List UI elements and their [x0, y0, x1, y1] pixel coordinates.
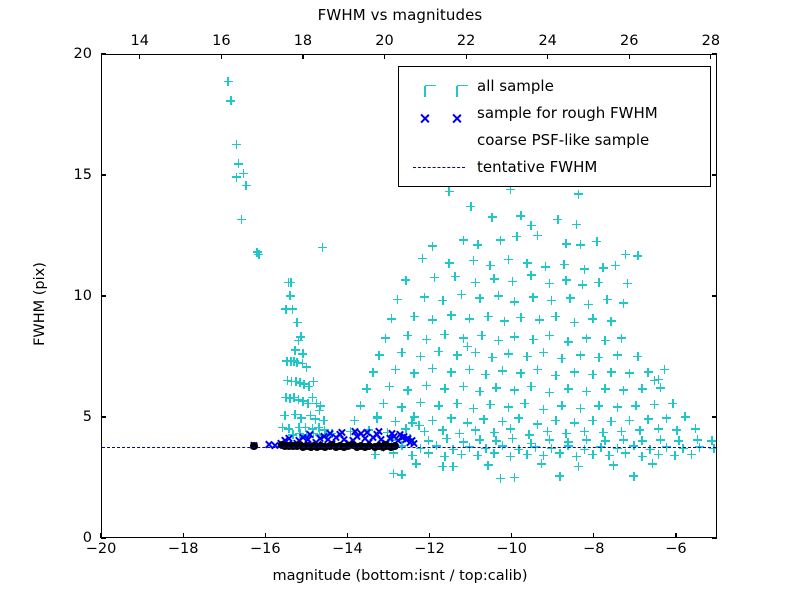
data-point — [442, 434, 451, 443]
data-point — [383, 428, 392, 437]
data-point — [473, 240, 482, 249]
data-point — [535, 315, 544, 324]
x-tick-label-top: 20 — [375, 33, 393, 49]
y-tick-right — [712, 416, 717, 417]
data-point — [523, 352, 532, 361]
data-point — [420, 293, 429, 302]
legend-label-all-sample: all sample — [477, 77, 554, 95]
data-point — [588, 416, 597, 425]
data-point — [551, 312, 560, 321]
chart-title: FWHM vs magnitudes — [0, 6, 800, 24]
data-point — [520, 399, 529, 408]
data-point — [537, 459, 546, 468]
data-point — [286, 394, 295, 403]
data-point — [580, 427, 589, 436]
x-tick-top — [139, 54, 140, 59]
x-tick-top — [384, 54, 385, 59]
data-point — [295, 378, 304, 387]
data-point — [648, 459, 657, 468]
data-point — [527, 382, 536, 391]
data-point — [547, 296, 556, 305]
data-point — [300, 380, 309, 389]
data-point — [459, 382, 468, 391]
data-point — [613, 351, 622, 360]
data-point — [543, 427, 552, 436]
data-point — [304, 382, 313, 391]
data-point — [410, 412, 419, 421]
tentative-fwhm-line — [102, 447, 716, 448]
data-point — [527, 221, 536, 230]
data-point — [451, 272, 460, 281]
x-tick-label-bottom: −16 — [250, 541, 281, 557]
data-point — [410, 369, 419, 378]
data-point — [449, 462, 458, 471]
data-point — [545, 279, 554, 288]
data-point — [479, 415, 488, 424]
x-tick-bottom — [429, 533, 430, 538]
data-point — [477, 331, 486, 340]
x-tick-top — [221, 54, 222, 59]
data-point — [576, 351, 585, 360]
y-tick-right — [712, 53, 717, 54]
y-tick-label: 15 — [0, 167, 92, 183]
legend-entry-rough-fwhm[interactable]: sample for rough FWHM — [399, 99, 710, 126]
x-tick-label-top: 14 — [131, 33, 149, 49]
data-point — [295, 436, 304, 445]
data-point — [305, 430, 314, 439]
data-point — [278, 423, 287, 432]
data-point — [294, 395, 303, 404]
data-point — [445, 187, 454, 196]
data-point — [475, 294, 484, 303]
data-point — [340, 435, 349, 444]
data-point — [375, 427, 384, 436]
data-point — [301, 423, 310, 432]
data-point — [403, 331, 412, 340]
data-point — [494, 291, 503, 300]
data-point — [393, 436, 402, 445]
data-point — [570, 318, 579, 327]
data-point — [312, 399, 321, 408]
data-point — [282, 357, 291, 366]
x-tick-label-bottom: −10 — [496, 541, 527, 557]
data-point — [650, 400, 659, 409]
data-point — [348, 436, 357, 445]
data-point — [296, 332, 305, 341]
data-point — [428, 242, 437, 251]
data-point — [599, 428, 608, 437]
data-point — [510, 332, 519, 341]
data-point — [484, 312, 493, 321]
data-point — [232, 140, 241, 149]
data-point — [445, 259, 454, 268]
data-point — [512, 232, 521, 241]
data-point — [635, 426, 644, 435]
data-point — [656, 383, 665, 392]
data-point — [360, 434, 369, 443]
data-point — [336, 430, 345, 439]
data-point — [315, 434, 324, 443]
legend-entry-tentative-fwhm[interactable]: tentative FWHM — [399, 153, 710, 180]
data-point — [290, 357, 299, 366]
data-point — [291, 410, 300, 419]
data-point — [406, 438, 415, 447]
data-point — [481, 444, 490, 453]
data-point — [415, 421, 424, 430]
data-point — [466, 202, 475, 211]
data-point — [557, 401, 566, 410]
x-tick-label-top: 24 — [538, 33, 556, 49]
data-point — [313, 440, 322, 449]
data-point — [387, 435, 396, 444]
legend-box[interactable]: all sample sample for rough FWHM coarse … — [398, 66, 711, 187]
data-point — [264, 440, 273, 449]
data-point — [447, 311, 456, 320]
data-point — [297, 414, 306, 423]
data-point — [373, 430, 382, 439]
data-point — [362, 384, 371, 393]
data-point — [401, 276, 410, 285]
y-tick-left — [101, 295, 106, 296]
data-point — [311, 415, 320, 424]
data-point — [539, 451, 548, 460]
data-point — [440, 384, 449, 393]
data-point — [551, 371, 560, 380]
data-point — [356, 429, 365, 438]
data-point — [459, 236, 468, 245]
x-tick-label-top: 26 — [620, 33, 638, 49]
data-point — [514, 414, 523, 423]
data-point — [455, 429, 464, 438]
data-point — [284, 434, 293, 443]
x-axis-label: magnitude (bottom:isnt / top:calib) — [0, 568, 800, 584]
y-tick-label: 20 — [0, 46, 92, 62]
data-point — [319, 416, 328, 425]
data-point — [486, 400, 495, 409]
data-point — [633, 251, 642, 260]
data-point — [299, 433, 308, 442]
data-point — [293, 358, 302, 367]
data-point — [557, 354, 566, 363]
data-point — [420, 427, 429, 436]
data-point — [457, 450, 466, 459]
data-point — [555, 472, 564, 481]
data-point — [611, 261, 620, 270]
data-point — [291, 346, 300, 355]
data-point — [234, 159, 243, 168]
data-point — [660, 365, 669, 374]
data-point — [303, 435, 312, 444]
data-point — [314, 423, 323, 432]
y-tick-label: 5 — [0, 409, 92, 425]
data-point — [397, 433, 406, 442]
data-point — [687, 450, 696, 459]
data-point — [638, 436, 647, 445]
y-tick-left — [101, 53, 106, 54]
data-point — [352, 432, 361, 441]
data-point — [601, 336, 610, 345]
data-point — [362, 428, 371, 437]
x-tick-top — [547, 54, 548, 59]
legend-entry-all-sample[interactable]: all sample — [399, 72, 710, 99]
data-point — [288, 430, 297, 439]
data-point — [613, 444, 622, 453]
data-point — [447, 414, 456, 423]
data-point — [506, 452, 515, 461]
data-point — [576, 404, 585, 413]
data-point — [298, 359, 307, 368]
y-tick-left — [101, 537, 106, 538]
data-point — [459, 438, 468, 447]
data-point — [588, 314, 597, 323]
data-point — [291, 377, 300, 386]
data-point — [638, 384, 647, 393]
data-point — [369, 433, 378, 442]
data-point — [494, 336, 503, 345]
data-point — [299, 397, 308, 406]
figure-canvas: FWHM vs magnitudes −20−18−16−14−12−10−8−… — [0, 0, 800, 600]
data-point — [492, 383, 501, 392]
data-point — [473, 451, 482, 460]
data-point — [594, 278, 603, 287]
data-point — [288, 305, 297, 314]
data-point — [239, 169, 248, 178]
data-point — [492, 436, 501, 445]
data-point — [385, 382, 394, 391]
data-point — [389, 469, 398, 478]
data-point — [434, 401, 443, 410]
data-point — [570, 368, 579, 377]
data-point — [545, 388, 554, 397]
data-point — [629, 472, 638, 481]
data-point — [465, 365, 474, 374]
data-point — [424, 449, 433, 458]
data-point — [668, 399, 677, 408]
data-point — [232, 173, 241, 182]
x-tick-label-top: 28 — [702, 33, 720, 49]
data-point — [288, 440, 297, 449]
data-point — [551, 416, 560, 425]
data-point — [490, 428, 499, 437]
data-point — [422, 381, 431, 390]
data-point — [397, 403, 406, 412]
data-point — [527, 271, 536, 280]
data-point — [619, 435, 628, 444]
data-point — [498, 417, 507, 426]
data-point — [309, 377, 318, 386]
data-point — [364, 438, 373, 447]
data-point — [613, 403, 622, 412]
x-tick-label-bottom: −8 — [583, 541, 604, 557]
data-point — [424, 436, 433, 445]
data-point — [471, 426, 480, 435]
x-tick-label-bottom: −18 — [168, 541, 199, 557]
data-point — [416, 398, 425, 407]
data-point — [408, 418, 417, 427]
x-tick-label-bottom: −12 — [414, 541, 445, 557]
data-point — [623, 279, 632, 288]
data-point — [475, 387, 484, 396]
data-point — [321, 430, 330, 439]
data-point — [350, 416, 359, 425]
data-point — [280, 436, 289, 445]
x-tick-bottom — [675, 533, 676, 538]
data-point — [284, 278, 293, 287]
data-point — [287, 377, 296, 386]
data-point — [465, 314, 474, 323]
data-point — [638, 452, 647, 461]
data-point — [633, 352, 642, 361]
data-point — [381, 441, 389, 449]
data-point — [574, 462, 583, 471]
data-point — [516, 211, 525, 220]
data-point — [625, 369, 634, 378]
data-point — [508, 277, 517, 286]
data-point — [562, 276, 571, 285]
data-point — [504, 349, 513, 358]
y-tick-left — [101, 416, 106, 417]
x-tick-top — [629, 54, 630, 59]
legend-entry-coarse-psf[interactable]: coarse PSF-like sample — [399, 126, 710, 153]
data-point — [617, 427, 626, 436]
data-point — [545, 435, 554, 444]
data-point — [369, 368, 378, 377]
data-point — [644, 415, 653, 424]
y-tick-label: 0 — [0, 530, 92, 546]
data-point — [471, 278, 480, 287]
data-point — [672, 426, 681, 435]
data-point — [302, 430, 311, 439]
data-point — [545, 331, 554, 340]
data-point — [662, 414, 671, 423]
data-point — [654, 375, 663, 384]
data-point — [582, 435, 591, 444]
data-point — [323, 435, 332, 444]
x-tick-label-bottom: −6 — [665, 541, 686, 557]
data-point — [416, 444, 425, 453]
data-point — [481, 370, 490, 379]
data-point — [603, 295, 612, 304]
data-point — [560, 260, 569, 269]
data-point — [691, 424, 700, 433]
data-point — [510, 297, 519, 306]
data-point — [564, 384, 573, 393]
data-point — [486, 261, 495, 270]
data-point — [422, 335, 431, 344]
data-point — [280, 411, 289, 420]
data-point — [607, 417, 616, 426]
data-point — [389, 432, 398, 441]
legend-marker-plus — [405, 72, 477, 99]
data-point — [572, 452, 581, 461]
data-point — [403, 386, 412, 395]
data-point — [547, 444, 556, 453]
data-point — [588, 370, 597, 379]
data-point — [453, 351, 462, 360]
data-point — [654, 450, 663, 459]
data-point — [447, 368, 456, 377]
data-point — [284, 424, 293, 433]
data-point — [588, 450, 597, 459]
data-point — [533, 420, 542, 429]
data-point — [416, 352, 425, 361]
data-point — [539, 405, 548, 414]
data-point — [594, 401, 603, 410]
data-point — [440, 330, 449, 339]
data-point — [295, 429, 304, 438]
data-point — [387, 314, 396, 323]
data-point — [346, 427, 355, 436]
data-point — [516, 313, 525, 322]
data-point — [364, 426, 373, 435]
data-point — [488, 213, 497, 222]
data-point — [315, 406, 324, 415]
data-point — [506, 424, 515, 433]
data-point — [281, 305, 290, 314]
data-point — [510, 386, 519, 395]
y-axis-label: FWHM (pix) — [32, 224, 48, 384]
data-point — [283, 376, 292, 385]
data-point — [605, 451, 614, 460]
data-point — [373, 414, 382, 423]
data-point — [226, 96, 235, 105]
data-point — [302, 363, 311, 372]
data-point — [311, 438, 320, 447]
data-point — [286, 291, 295, 300]
data-point — [498, 366, 507, 375]
data-point — [406, 434, 415, 443]
data-point — [440, 452, 449, 461]
data-point — [681, 412, 690, 421]
data-point — [332, 433, 341, 442]
data-point — [397, 348, 406, 357]
data-point — [463, 418, 472, 427]
data-point — [469, 256, 478, 265]
data-point — [304, 399, 313, 408]
data-point — [237, 215, 246, 224]
data-point — [578, 280, 587, 289]
data-point — [572, 220, 581, 229]
data-point — [430, 273, 439, 282]
data-point — [471, 348, 480, 357]
data-point — [318, 243, 327, 252]
data-point — [601, 384, 610, 393]
data-point — [434, 347, 443, 356]
legend-marker-ex — [405, 99, 477, 126]
data-point — [516, 369, 525, 378]
x-tick-label-top: 22 — [457, 33, 475, 49]
data-point — [592, 237, 601, 246]
data-point — [584, 300, 593, 309]
data-point — [338, 428, 347, 437]
x-tick-label-top: 16 — [212, 33, 230, 49]
data-point — [529, 335, 538, 344]
data-point — [654, 424, 663, 433]
data-point — [564, 438, 573, 447]
data-point — [539, 348, 548, 357]
data-point — [371, 450, 380, 459]
data-point — [327, 429, 336, 438]
x-tick-top — [466, 54, 467, 59]
data-point — [574, 190, 583, 199]
data-point — [253, 248, 262, 257]
data-point — [644, 368, 653, 377]
data-point — [308, 424, 317, 433]
x-tick-label-top: 18 — [294, 33, 312, 49]
data-point — [484, 461, 493, 470]
data-point — [428, 364, 437, 373]
data-point — [469, 404, 478, 413]
